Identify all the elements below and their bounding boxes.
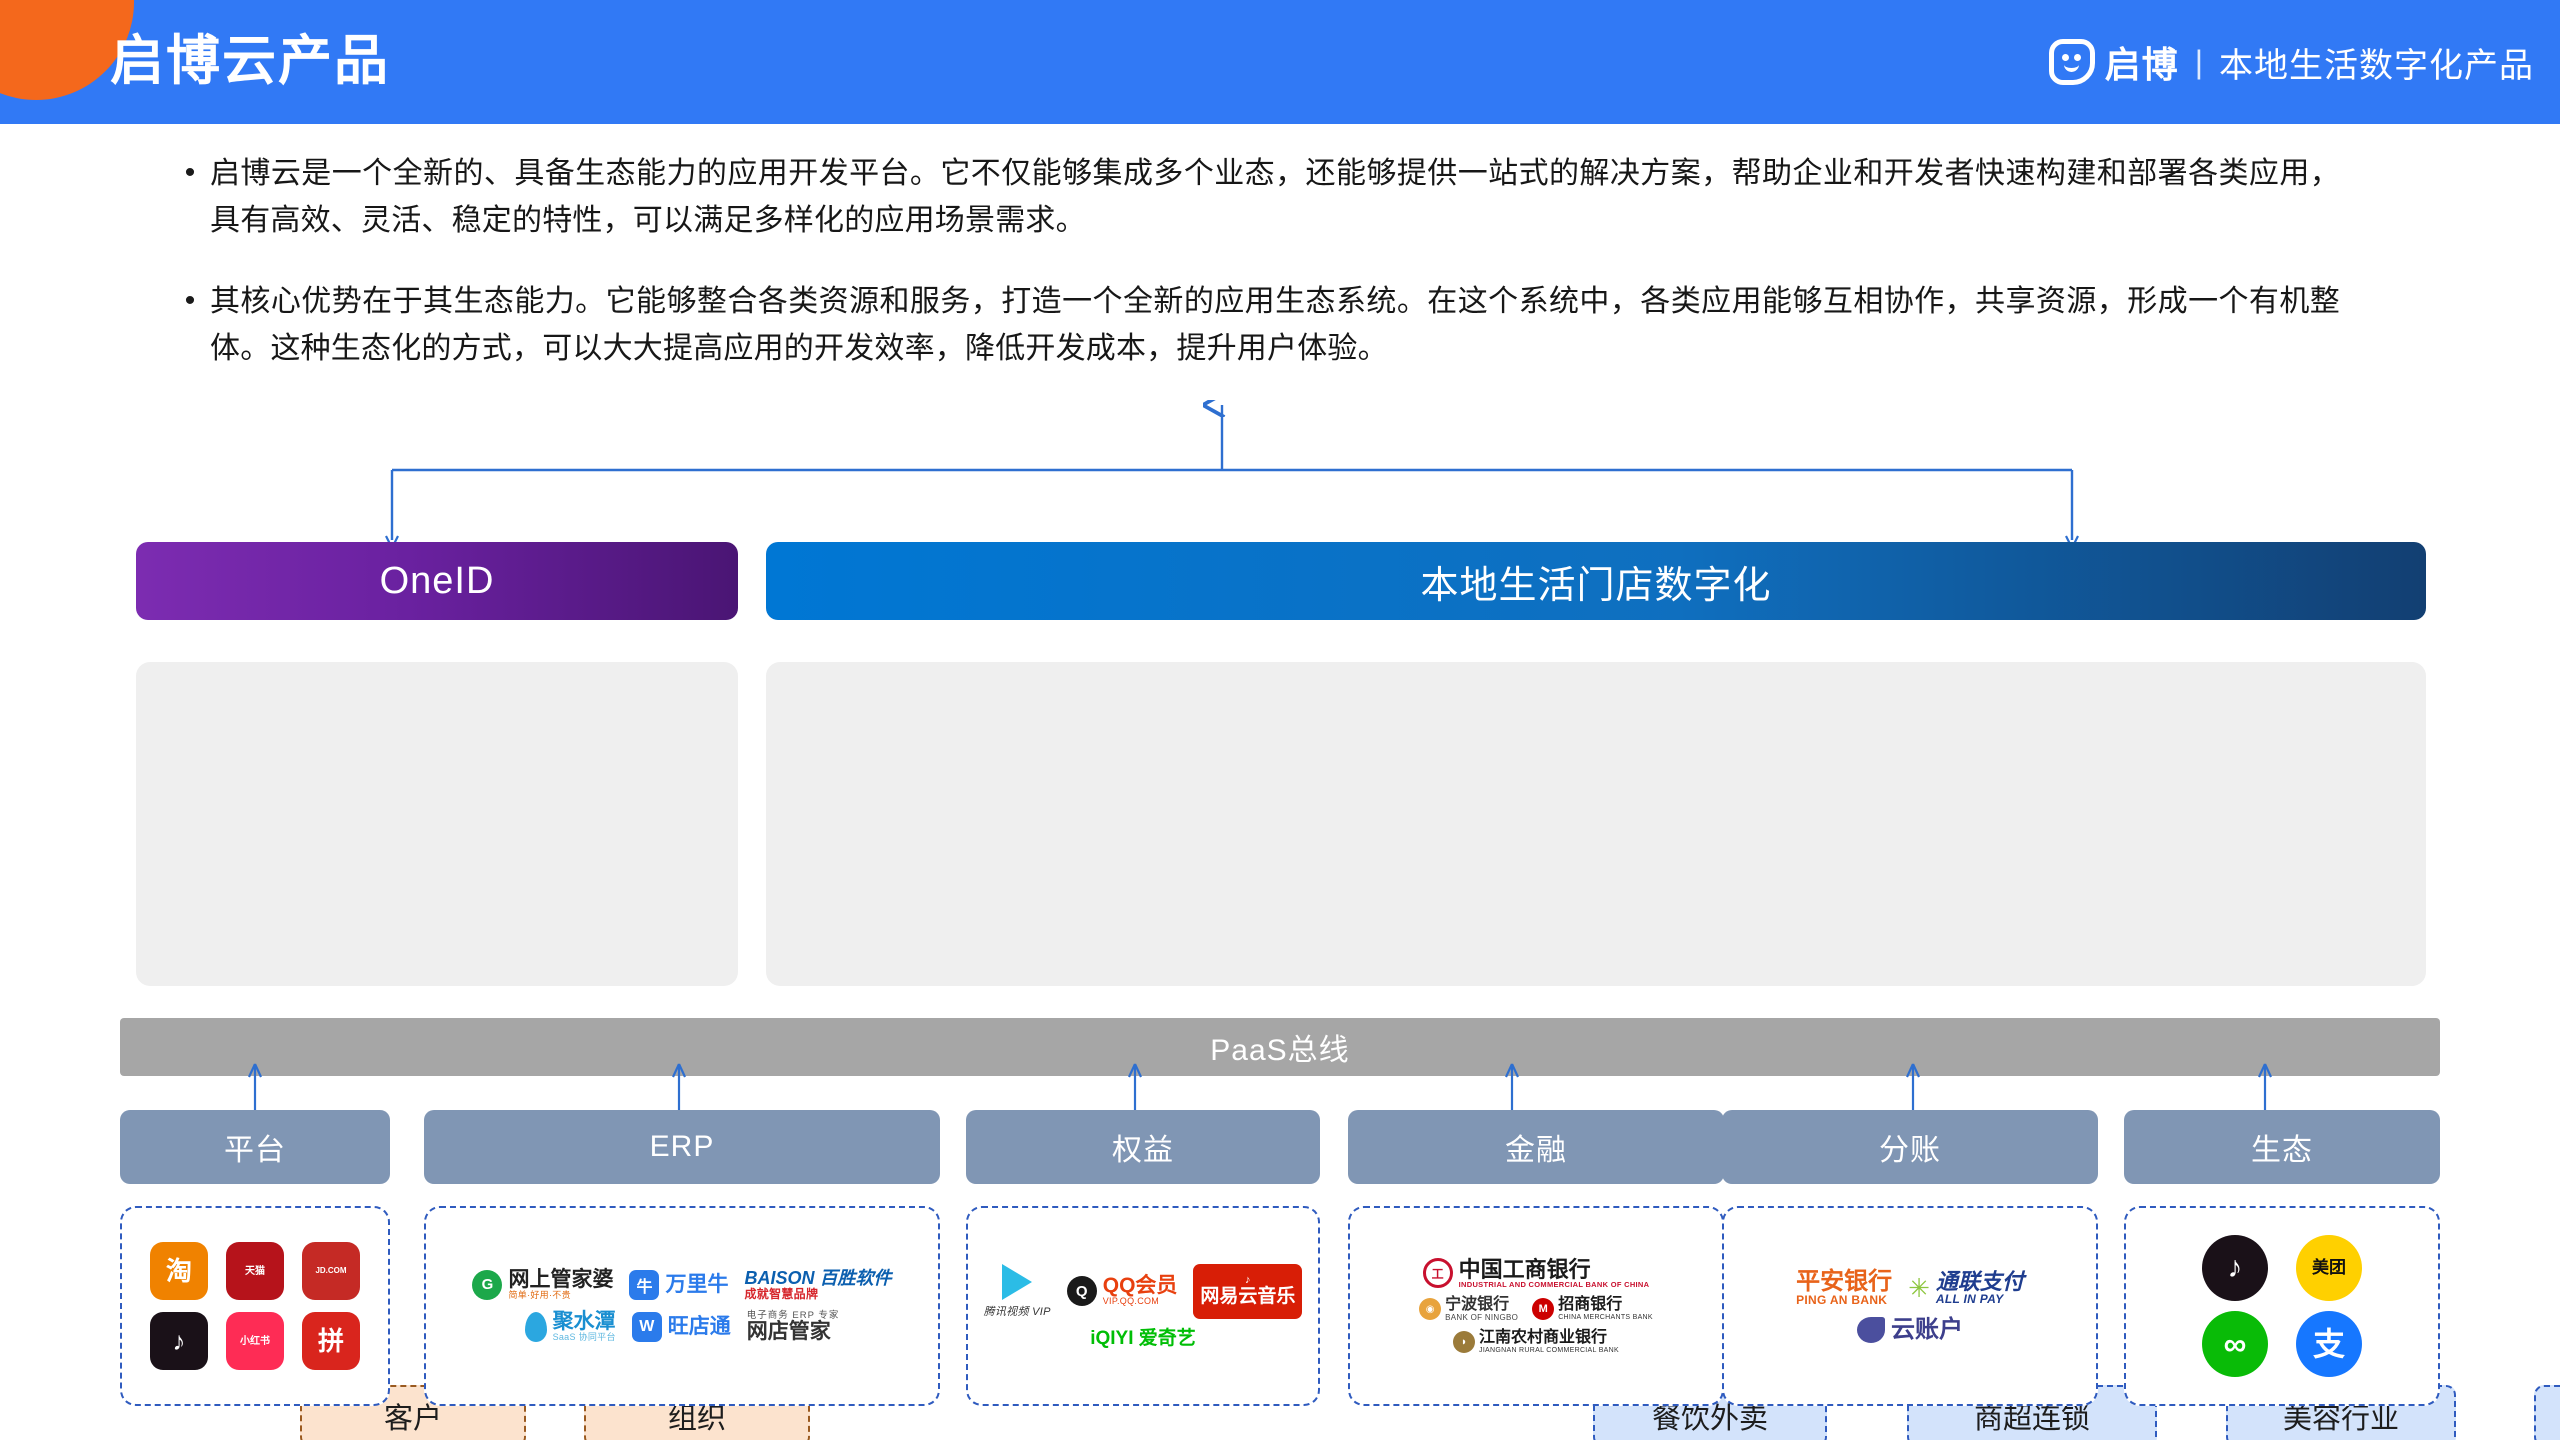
logo-box-erp: G 网上管家婆 简单·好用·不贵 牛 万里牛 BAISON 百胜软件 成就智慧品	[424, 1206, 940, 1406]
baison-logo: BAISON 百胜软件 成就智慧品牌	[744, 1269, 891, 1300]
allinpay-mark-icon: ✳	[1908, 1273, 1930, 1304]
play-triangle-icon	[1002, 1264, 1032, 1300]
category-bar-ecosystem[interactable]: 生态	[2124, 1110, 2440, 1184]
category-bar-erp[interactable]: ERP	[424, 1110, 940, 1184]
brand-name: 启博	[2105, 36, 2179, 88]
oneid-title: OneID	[380, 560, 495, 603]
douyin-icon: ♪	[2202, 1235, 2268, 1301]
ningbo-bank-logo: ◉ 宁波银行 BANK OF NINGBO	[1419, 1297, 1518, 1322]
icbc-logo: 工 中国工商银行 INDUSTRIAL AND COMMERCIAL BANK …	[1363, 1258, 1709, 1289]
jiangnan-mark-icon: ◗	[1453, 1331, 1475, 1353]
jd-icon: JD.COM	[302, 1242, 360, 1300]
wangdiantong-logo: W 旺店通	[632, 1311, 731, 1343]
brand-divider: |	[2195, 44, 2203, 81]
wangdianguanjia-logo: 电子商务 ERP 专家 网店管家	[747, 1311, 840, 1343]
logo-box-finance: 工 中国工商银行 INDUSTRIAL AND COMMERCIAL BANK …	[1348, 1206, 1724, 1406]
slide-canvas: 启博云产品 启博 | 本地生活数字化产品 • 启博云是一个全新的、具备生态能力的…	[0, 0, 2560, 1440]
meituan-icon: 美团	[2296, 1235, 2362, 1301]
netease-music-logo: ♪ 网易云音乐	[1193, 1264, 1302, 1319]
pingan-bank-logo: 平安银行 PING AN BANK	[1796, 1269, 1892, 1307]
bullet-marker: •	[170, 150, 210, 244]
wangshangguanjiapo-logo: G 网上管家婆 简单·好用·不贵	[472, 1269, 613, 1300]
logo-box-platform: 淘 天猫 JD.COM ♪ 小红书 拼	[120, 1206, 390, 1406]
logo-box-ecosystem: ♪ 美团 ∞ 支	[2124, 1206, 2440, 1406]
bullet-marker: •	[170, 278, 210, 372]
wanliniu-logo: 牛 万里牛	[629, 1269, 728, 1300]
bullet-list: • 启博云是一个全新的、具备生态能力的应用开发平台。它不仅能够集成多个业态，还能…	[0, 150, 2560, 406]
waterdrop-icon	[525, 1312, 547, 1342]
iqiyi-logo: iQIYI 爱奇艺	[1090, 1329, 1196, 1349]
yunzhanghu-mark-icon	[1857, 1317, 1885, 1343]
jushuitan-logo: 聚水潭 SaaS 协同平台	[525, 1311, 616, 1343]
qq-penguin-icon: Q	[1067, 1276, 1097, 1306]
ningbo-mark-icon: ◉	[1419, 1298, 1441, 1320]
wanliniu-mark-icon: 牛	[629, 1270, 659, 1300]
qibo-logo-icon	[2049, 39, 2095, 85]
page-title: 启博云产品	[110, 22, 390, 100]
allinpay-logo: ✳ 通联支付 ALL IN PAY	[1908, 1269, 2024, 1307]
alipay-icon: 支	[2296, 1311, 2362, 1377]
logo-box-split: 平安银行 PING AN BANK ✳ 通联支付 ALL IN PAY 云账户	[1722, 1206, 2098, 1406]
qq-vip-logo: Q QQ会员 VIP.QQ.COM	[1067, 1264, 1178, 1319]
list-item: • 其核心优势在于其生态能力。它能够整合各类资源和服务，打造一个全新的应用生态系…	[0, 278, 2560, 372]
cmb-mark-icon: M	[1532, 1298, 1554, 1320]
jiangnan-bank-logo: ◗ 江南农村商业银行 JIANGNAN RURAL COMMERCIAL BAN…	[1363, 1330, 1709, 1354]
pinduoduo-icon: 拼	[302, 1312, 360, 1370]
icbc-mark-icon: 工	[1423, 1258, 1453, 1288]
cmb-logo: M 招商银行 CHINA MERCHANTS BANK	[1532, 1297, 1653, 1322]
oneid-panel: 客户 组织 商品 订单 素材 营销	[136, 662, 738, 986]
local-chip-3[interactable]: 教育培训	[2534, 1385, 2560, 1440]
connector-arrows	[0, 400, 2560, 560]
xiaohongshu-icon: 小红书	[226, 1312, 284, 1370]
local-life-header-bar: 本地生活门店数字化	[766, 542, 2426, 620]
local-life-panel: 餐饮外卖 商超连锁 美容行业 教育培训 上门家政 宠物门店 足浴保健 酒吧茶楼 …	[766, 662, 2426, 986]
tmall-icon: 天猫	[226, 1242, 284, 1300]
page-header: 启博云产品 启博 | 本地生活数字化产品	[0, 0, 2560, 124]
oneid-header-bar: OneID	[136, 542, 738, 620]
yunzhanghu-logo: 云账户	[1738, 1317, 2082, 1343]
category-bar-rights[interactable]: 权益	[966, 1110, 1320, 1184]
category-bar-finance[interactable]: 金融	[1348, 1110, 1724, 1184]
logo-box-rights: 腾讯视频 VIP Q QQ会员 VIP.QQ.COM ♪ 网易云音乐	[966, 1206, 1320, 1406]
guanjiapo-mark-icon: G	[472, 1270, 502, 1300]
tencent-video-logo: 腾讯视频 VIP	[984, 1264, 1051, 1319]
category-bar-platform[interactable]: 平台	[120, 1110, 390, 1184]
douyin-icon: ♪	[150, 1312, 208, 1370]
wangdiantong-mark-icon: W	[632, 1312, 662, 1342]
weixin-channels-icon: ∞	[2202, 1311, 2268, 1377]
category-bar-split[interactable]: 分账	[1722, 1110, 2098, 1184]
local-life-title: 本地生活门店数字化	[1420, 554, 1771, 609]
header-brand-group: 启博 | 本地生活数字化产品	[2049, 36, 2534, 88]
header-subtitle: 本地生活数字化产品	[2219, 38, 2534, 87]
taobao-icon: 淘	[150, 1242, 208, 1300]
list-item: • 启博云是一个全新的、具备生态能力的应用开发平台。它不仅能够集成多个业态，还能…	[0, 150, 2560, 244]
bullet-text: 启博云是一个全新的、具备生态能力的应用开发平台。它不仅能够集成多个业态，还能够提…	[210, 150, 2340, 244]
decorative-dot	[28, 60, 56, 98]
bullet-text: 其核心优势在于其生态能力。它能够整合各类资源和服务，打造一个全新的应用生态系统。…	[210, 278, 2340, 372]
